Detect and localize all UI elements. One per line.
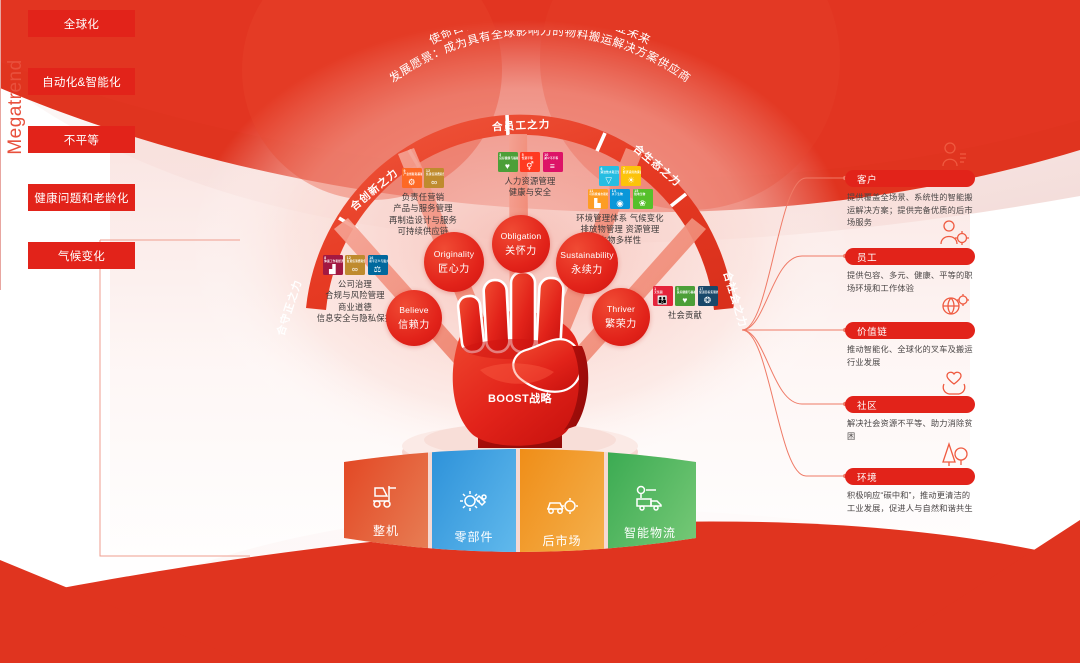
stakeholder-body: 积极响应“碳中和”，推动更清洁的工业发展，促进人与自然和谐共生: [845, 490, 975, 515]
megatrend-item-inequality[interactable]: 不平等: [28, 126, 135, 153]
sdg-tile: 5 性别平等 ⚥: [520, 152, 540, 172]
globe-gear-icon: [939, 292, 969, 325]
sector-item: 产品与服务管理: [358, 203, 488, 214]
sdg-tile: 11 可持续城市和社区 ▙: [588, 189, 608, 209]
segment-label: 智能物流: [624, 524, 676, 541]
stakeholder-pill[interactable]: 社区: [845, 396, 975, 413]
sector-item: 再制造设计与服务: [358, 215, 488, 226]
boost-strategy-label: BOOST战略: [465, 390, 575, 406]
megatrend-item-automation[interactable]: 自动化&智能化: [28, 68, 135, 95]
megatrend-item-climate[interactable]: 气候变化: [28, 242, 135, 269]
sdg-row-ecology-bottom: 11 可持续城市和社区 ▙ 14 水下生物 ◉ 15 陆地生物 ❀: [555, 189, 685, 209]
smart-logistics-icon: [632, 484, 668, 517]
sector-arc-label-employee: 合员工之力: [492, 116, 551, 134]
stakeholder-title: 员工: [857, 250, 877, 264]
segment-label: 整机: [373, 522, 399, 539]
stakeholder-employee: 员工 提供包容、多元、健康、平等的职场环境和工作体验: [845, 248, 975, 295]
stakeholder-pill[interactable]: 环境: [845, 468, 975, 485]
sdg-tile: 9 产业创新和基础设施 ⚙: [402, 168, 422, 188]
stakeholder-title: 价值链: [857, 324, 887, 338]
segment-label: 零部件: [454, 528, 493, 545]
stakeholder-title: 社区: [857, 398, 877, 412]
stakeholder-pill[interactable]: 客户: [845, 170, 975, 187]
tree-leaf-icon: [939, 438, 969, 471]
boost-circle-obligation: Obligation 关怀力: [492, 215, 550, 273]
stakeholder-pill[interactable]: 员工: [845, 248, 975, 265]
forklift-icon: [369, 482, 403, 515]
sdg-tile: 8 体面工作和经济增长 ▟: [323, 255, 343, 275]
megatrend-item-globalization[interactable]: 全球化: [28, 10, 135, 37]
sdg-tile: 15 陆地生物 ❀: [633, 189, 653, 209]
gear-wrench-icon: [457, 488, 491, 521]
megatrend-axis-line: [0, 0, 1, 290]
stakeholder-value-chain: 价值链 推动智能化、全球化的叉车及搬运行业发展: [845, 322, 975, 369]
segment-smart-logistics[interactable]: 智能物流: [610, 466, 690, 550]
car-service-icon: [544, 492, 580, 525]
sector-item: 环境管理体系 气候变化: [555, 213, 685, 224]
stakeholder-environment: 环境 积极响应“碳中和”，推动更清洁的工业发展，促进人与自然和谐共生: [845, 468, 975, 515]
stakeholder-community: 社区 解决社会资源不平等、助力消除贫困: [845, 396, 975, 443]
stakeholder-title: 环境: [857, 470, 877, 484]
sdg-tile: 17 促进目标实现的伙伴关系 ❂: [698, 286, 718, 306]
sdg-tile: 12 负责任消费和生产 ∞: [345, 255, 365, 275]
sdg-tile: 3 良好健康与福祉 ♥: [675, 286, 695, 306]
sdg-tile: 6 清洁饮水和卫生设施 ▽: [599, 166, 619, 186]
segment-parts[interactable]: 零部件: [434, 470, 514, 554]
sdg-tile: 1 无贫困 👪: [653, 286, 673, 306]
sdg-tile: 3 良好健康与福祉 ♥: [498, 152, 518, 172]
hands-heart-icon: [939, 366, 969, 399]
sdg-tile: 14 水下生物 ◉: [610, 189, 630, 209]
sdg-tile: 16 和平正义与强大机构 ⚖: [368, 255, 388, 275]
segment-machine[interactable]: 整机: [346, 464, 426, 548]
sdg-tile: 12 负责任消费和生产 ∞: [424, 168, 444, 188]
business-segments: 整机 零部件 后市场: [344, 452, 696, 554]
boost-circle-thriver: Thriver 繁荣力: [592, 288, 650, 346]
infographic-canvas: 使命目标：聚合力, 提升可持续的工业未来 发展愿景：成为具有全球影响力的物料搬运…: [0, 0, 1080, 663]
stakeholder-title: 客户: [857, 172, 877, 186]
boost-circle-believe: Believe 信赖力: [386, 290, 442, 346]
sector-item: 公司治理: [290, 279, 420, 290]
employee-gear-icon: [939, 218, 969, 251]
segment-aftermarket[interactable]: 后市场: [522, 474, 602, 558]
megatrend-item-health-aging[interactable]: 健康问题和老龄化: [28, 184, 135, 211]
customer-icon: [939, 140, 969, 173]
stakeholder-pill[interactable]: 价值链: [845, 322, 975, 339]
segment-label: 后市场: [542, 532, 581, 549]
boost-circle-originality: Originality 匠心力: [424, 232, 484, 292]
megatrend-axis-label: Megatrend: [5, 57, 27, 157]
sdg-row-ecology-top: 6 清洁饮水和卫生设施 ▽ 7 经济适用的清洁能源 ☀: [555, 166, 685, 186]
boost-circle-sustainability: Sustainability 永续力: [556, 232, 618, 294]
sdg-row-compliance: 8 体面工作和经济增长 ▟ 12 负责任消费和生产 ∞ 16 和平正义与强大机构…: [290, 255, 420, 275]
sdg-tile: 7 经济适用的清洁能源 ☀: [621, 166, 641, 186]
